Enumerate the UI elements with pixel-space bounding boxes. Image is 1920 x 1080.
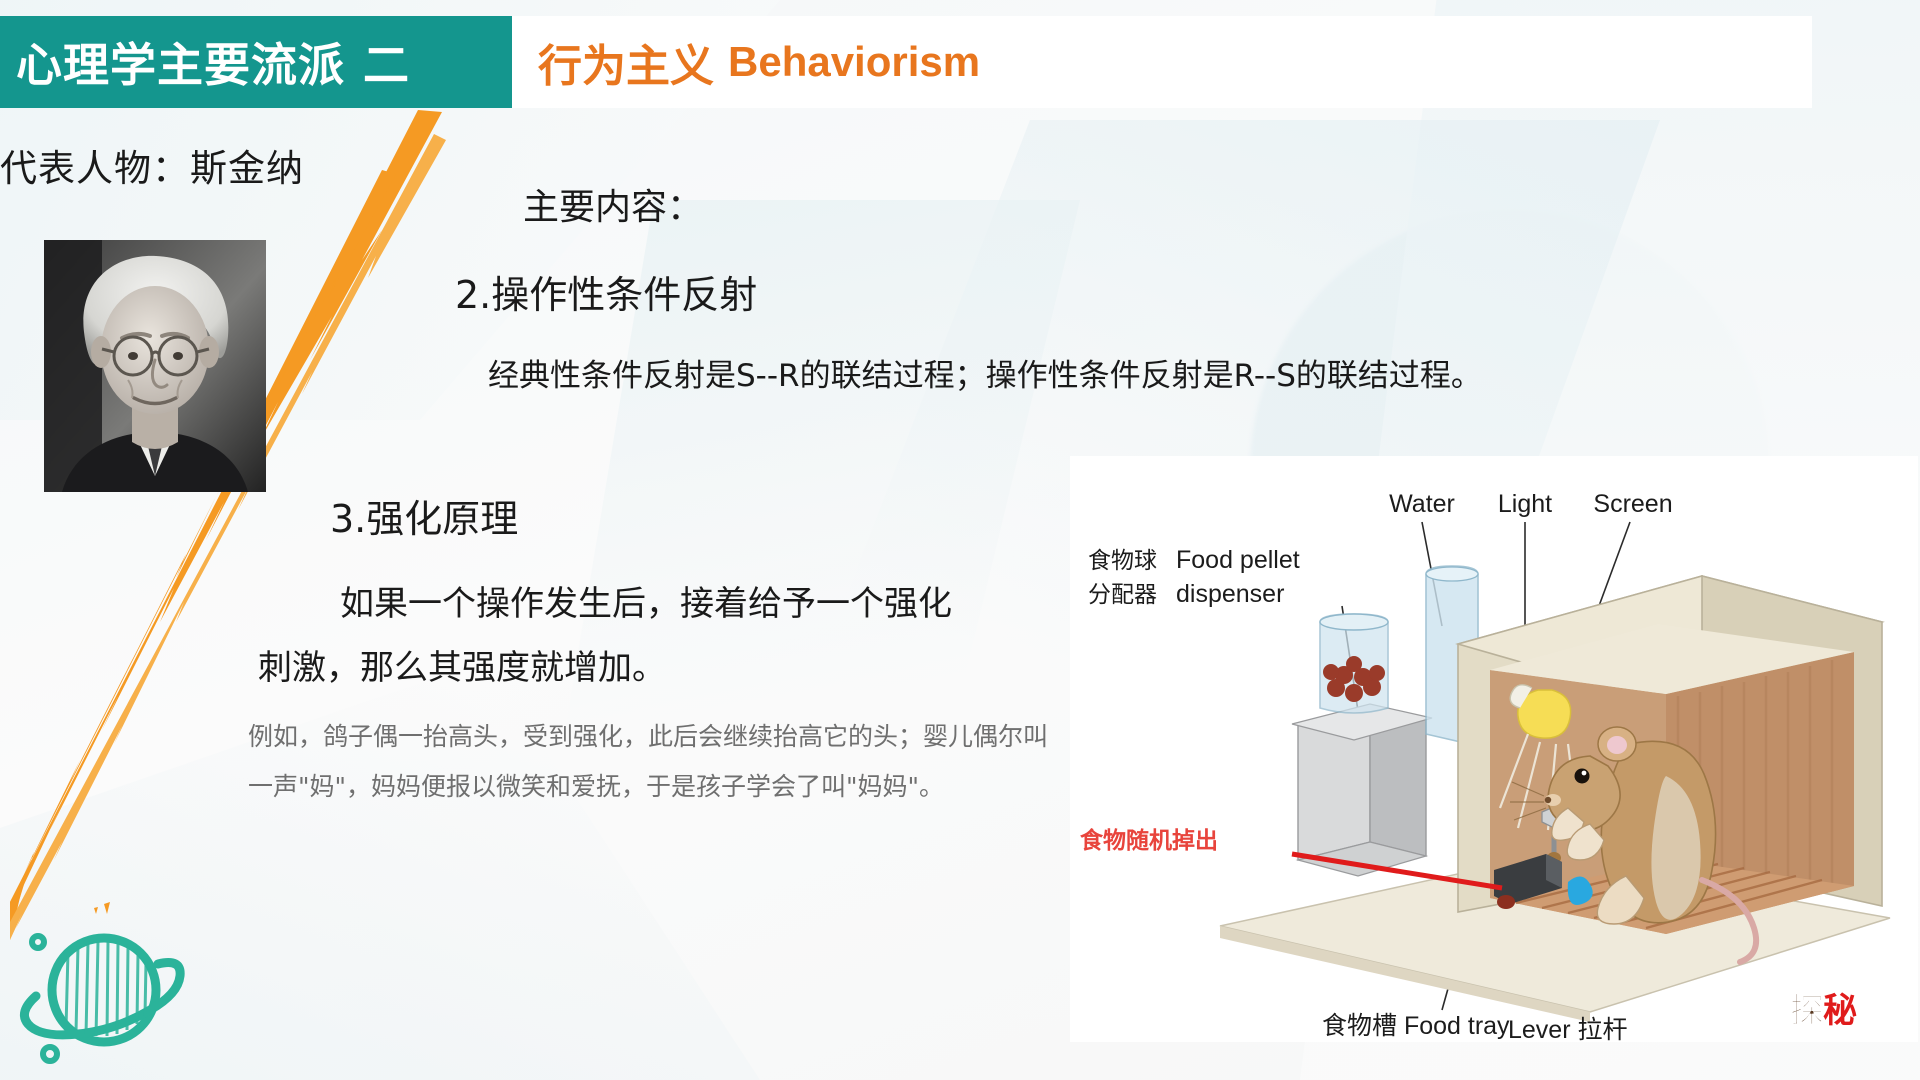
item2-body: 经典性条件反射是S--R的联结过程；操作性条件反射是R--S的联结过程。 xyxy=(488,350,1482,395)
header-section-number: 二 xyxy=(363,29,409,95)
header-series-block: 心理学主要流派 二 xyxy=(0,16,512,108)
figure-label-dispenser-cn-1: 食物球 xyxy=(1088,547,1157,573)
header-series-title: 心理学主要流派 xyxy=(16,29,345,95)
skinner-box-figure: Water Light Screen 食物球 分配器 Food pellet d… xyxy=(1070,456,1918,1042)
header-topic-en: Behaviorism xyxy=(728,38,980,86)
watermark-part1: 探 xyxy=(1790,991,1823,1031)
slide: 心理学主要流派 二 行为主义 Behaviorism 代表人物：斯金纳 xyxy=(0,0,1920,1080)
skinner-portrait xyxy=(44,240,266,492)
figure-label-random-drop: 食物随机掉出 xyxy=(1080,827,1218,853)
item3-body-line1: 如果一个操作发生后，接着给予一个强化 xyxy=(340,576,952,625)
slide-header: 心理学主要流派 二 行为主义 Behaviorism xyxy=(0,16,1812,108)
figure-label-dispenser-cn-2: 分配器 xyxy=(1088,581,1157,607)
item3-example-text: 例如，鸽子偶一抬高头，受到强化，此后会继续抬高它的头；婴儿偶尔叫一声"妈"，妈妈… xyxy=(248,712,1048,812)
item3-body-line2: 刺激，那么其强度就增加。 xyxy=(258,640,666,689)
representative-label: 代表人物：斯金纳 xyxy=(0,138,304,192)
main-content-heading: 主要内容： xyxy=(523,178,703,230)
item3-heading: 3.强化原理 xyxy=(330,488,518,543)
figure-label-lever: Lever 拉杆 xyxy=(1508,1016,1627,1042)
figure-label-screen: Screen xyxy=(1593,490,1672,518)
watermark: 探秘 xyxy=(1790,983,1918,1032)
header-topic-cn: 行为主义 xyxy=(538,30,714,94)
header-topic-block: 行为主义 Behaviorism xyxy=(512,16,1812,108)
figure-label-food-tray: 食物槽 Food tray xyxy=(1322,1012,1510,1040)
item2-heading: 2.操作性条件反射 xyxy=(455,264,757,319)
figure-label-dispenser-en-1: Food pellet xyxy=(1176,546,1300,574)
planet-doodle-icon xyxy=(8,902,198,1072)
watermark-part2: 秘 xyxy=(1823,991,1856,1031)
figure-label-light: Light xyxy=(1498,490,1552,518)
figure-label-dispenser-en-2: dispenser xyxy=(1176,580,1284,608)
figure-label-water: Water xyxy=(1389,490,1455,518)
